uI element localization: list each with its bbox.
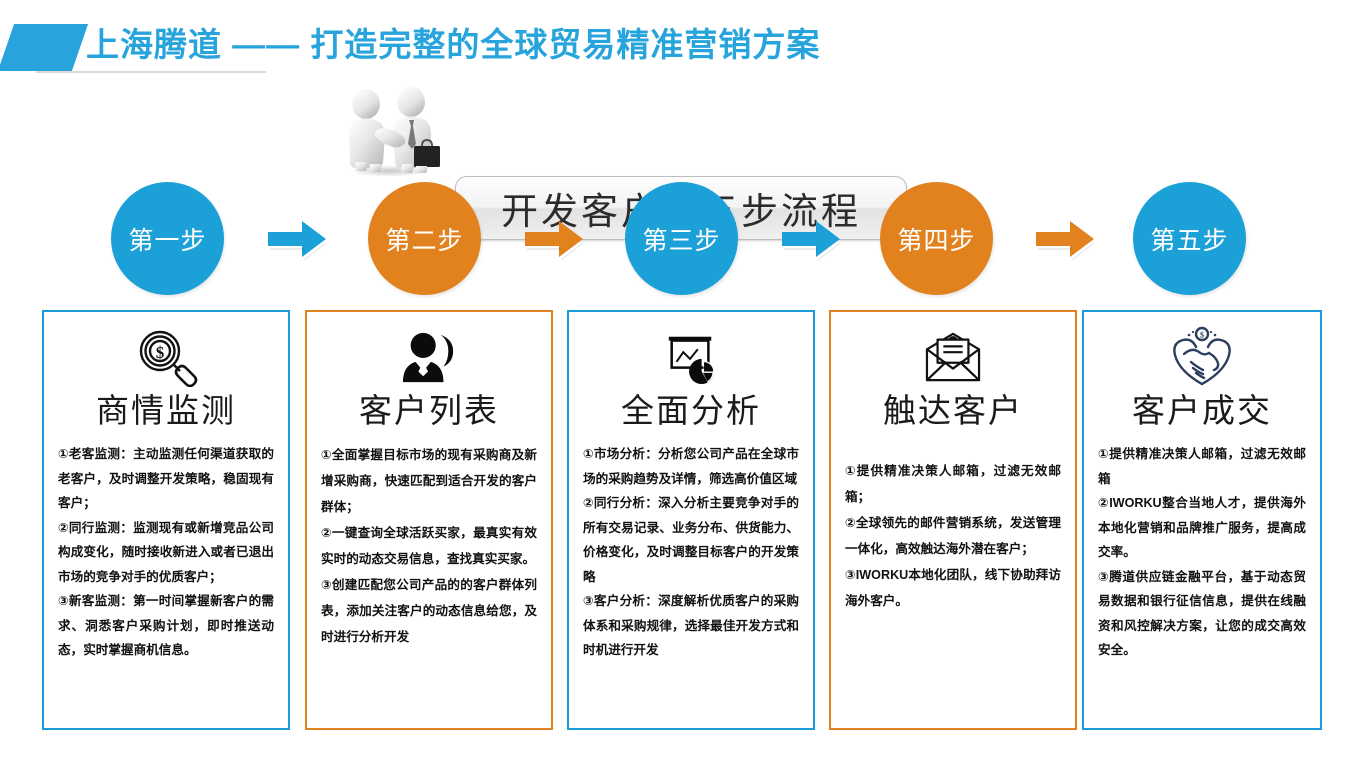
card-item-text: ①提供精准决策人邮箱，过滤无效邮箱； xyxy=(845,464,1061,504)
card-body: ①全面掌握目标市场的现有采购商及新增采购商，快速匹配到适合开发的客户群体； ②一… xyxy=(321,442,537,650)
card-item: ①提供精准决策人邮箱，过滤无效邮箱 xyxy=(1098,442,1306,491)
card-reach-customer[interactable]: 触达客户 ①提供精准决策人邮箱，过滤无效邮箱； ②全球领先的邮件营销系统，发送管… xyxy=(829,310,1077,730)
card-item-text: ②全球领先的邮件营销系统，发送管理一体化，高效触达海外潜在客户； xyxy=(845,516,1061,556)
card-deal-closed[interactable]: $ 客户成交 ①提供精准决策人邮箱，过滤无效邮箱 ②IWORKU整合当地人才，提… xyxy=(1082,310,1322,730)
card-item: ②一键查询全球活跃买家，最真实有效实时的动态交易信息，查找真实买家。 xyxy=(321,520,537,572)
slide-root: 上海腾道 —— 打造完整的全球贸易精准营销方案 xyxy=(0,0,1362,770)
card-item: ①市场分析：分析您公司产品在全球市场的采购趋势及详情，筛选高价值区域 xyxy=(583,442,799,491)
card-item: ②同行监测：监测现有或新增竞品公司构成变化，随时接收新进入或者已退出市场的竞争对… xyxy=(58,516,274,590)
step-circle-4[interactable]: 第四步 xyxy=(880,182,993,295)
step-circle-2-label: 第二步 xyxy=(385,221,463,257)
card-item-lead: ③客户分析： xyxy=(583,594,658,608)
card-item: ③创建匹配您公司产品的的客户群体列表，添加关注客户的动态信息给您，及时进行分析开… xyxy=(321,572,537,650)
step-arrow-1 xyxy=(264,214,332,262)
page-header: 上海腾道 —— 打造完整的全球贸易精准营销方案 xyxy=(0,0,1362,84)
card-item: ②IWORKU整合当地人才，提供海外本地化营销和品牌推广服务，提高成交率。 xyxy=(1098,491,1306,565)
step-circle-3[interactable]: 第三步 xyxy=(625,182,738,295)
card-title: 客户列表 xyxy=(321,392,537,432)
card-item-text: ②一键查询全球活跃买家，最真实有效实时的动态交易信息，查找真实买家。 xyxy=(321,526,537,566)
step-circle-5[interactable]: 第五步 xyxy=(1133,182,1246,295)
steps-row: 第一步 第二步 第三步 第四步 xyxy=(0,182,1362,297)
card-full-analysis[interactable]: 全面分析 ①市场分析：分析您公司产品在全球市场的采购趋势及详情，筛选高价值区域 … xyxy=(567,310,815,730)
card-item-text: ①提供精准决策人邮箱，过滤无效邮箱 xyxy=(1098,447,1306,486)
svg-text:$: $ xyxy=(1200,331,1204,340)
card-business-monitoring[interactable]: $ 商情监测 ①老客监测：主动监测任何渠道获取的老客户，及时调整开发策略，稳固现… xyxy=(42,310,290,730)
magnifier-dollar-icon: $ xyxy=(58,324,274,390)
header-divider xyxy=(36,71,266,73)
step-circle-5-label: 第五步 xyxy=(1150,221,1228,257)
card-item: ②同行分析：深入分析主要竞争对手的所有交易记录、业务分布、供货能力、价格变化，及… xyxy=(583,491,799,589)
card-title: 客户成交 xyxy=(1098,392,1306,432)
card-item-lead: ①老客监测： xyxy=(58,447,133,461)
handshake-clipart-icon xyxy=(336,84,444,176)
card-title: 商情监测 xyxy=(58,392,274,432)
card-item: ①全面掌握目标市场的现有采购商及新增采购商，快速匹配到适合开发的客户群体； xyxy=(321,442,537,520)
card-title: 触达客户 xyxy=(845,392,1061,432)
page-title: 上海腾道 —— 打造完整的全球贸易精准营销方案 xyxy=(86,22,820,68)
card-item: ②全球领先的邮件营销系统，发送管理一体化，高效触达海外潜在客户； xyxy=(845,510,1061,562)
card-item: ③IWORKU本地化团队，线下协助拜访海外客户。 xyxy=(845,562,1061,614)
card-item-lead: ①市场分析： xyxy=(583,447,658,461)
card-title: 全面分析 xyxy=(583,392,799,432)
card-customer-list[interactable]: 客户列表 ①全面掌握目标市场的现有采购商及新增采购商，快速匹配到适合开发的客户群… xyxy=(305,310,553,730)
step-arrow-3 xyxy=(778,214,846,262)
card-item-text: ③IWORKU本地化团队，线下协助拜访海外客户。 xyxy=(845,568,1061,608)
card-body: ①提供精准决策人邮箱，过滤无效邮箱； ②全球领先的邮件营销系统，发送管理一体化，… xyxy=(845,458,1061,614)
card-item: ③客户分析：深度解析优质客户的采购体系和采购规律，选择最佳开发方式和时机进行开发 xyxy=(583,589,799,663)
handshake-heart-icon: $ xyxy=(1098,324,1306,390)
card-item-text: ①全面掌握目标市场的现有采购商及新增采购商，快速匹配到适合开发的客户群体； xyxy=(321,448,537,514)
card-body: ①提供精准决策人邮箱，过滤无效邮箱 ②IWORKU整合当地人才，提供海外本地化营… xyxy=(1098,442,1306,663)
card-item: ①老客监测：主动监测任何渠道获取的老客户，及时调整开发策略，稳固现有客户； xyxy=(58,442,274,516)
step-circle-4-label: 第四步 xyxy=(897,221,975,257)
step-circle-2[interactable]: 第二步 xyxy=(368,182,481,295)
card-item-lead: ③新客监测： xyxy=(58,594,133,608)
card-item-text: ③创建匹配您公司产品的的客户群体列表，添加关注客户的动态信息给您，及时进行分析开… xyxy=(321,578,537,644)
card-item: ③新客监测：第一时间掌握新客户的需求、洞悉客户采购计划，即时推送动态，实时掌握商… xyxy=(58,589,274,663)
presentation-chart-icon xyxy=(583,324,799,390)
card-item-text: ②IWORKU整合当地人才，提供海外本地化营销和品牌推广服务，提高成交率。 xyxy=(1098,496,1306,559)
card-body: ①市场分析：分析您公司产品在全球市场的采购趋势及详情，筛选高价值区域 ②同行分析… xyxy=(583,442,799,663)
card-item-text: ③腾道供应链金融平台，基于动态贸易数据和银行征信信息，提供在线融资和风控解决方案… xyxy=(1098,570,1306,658)
card-body: ①老客监测：主动监测任何渠道获取的老客户，及时调整开发策略，稳固现有客户； ②同… xyxy=(58,442,274,663)
customer-group-icon xyxy=(321,324,537,390)
header-flag-shape xyxy=(0,24,88,71)
step-circle-1[interactable]: 第一步 xyxy=(111,182,224,295)
card-item-lead: ②同行监测： xyxy=(58,521,133,535)
cards-row: $ 商情监测 ①老客监测：主动监测任何渠道获取的老客户，及时调整开发策略，稳固现… xyxy=(0,305,1362,735)
svg-text:$: $ xyxy=(156,343,165,362)
open-envelope-icon xyxy=(845,324,1061,390)
card-item: ①提供精准决策人邮箱，过滤无效邮箱； xyxy=(845,458,1061,510)
step-circle-1-label: 第一步 xyxy=(128,221,206,257)
hero-section: 开发客户的五步流程 xyxy=(0,84,1362,194)
card-item: ③腾道供应链金融平台，基于动态贸易数据和银行征信信息，提供在线融资和风控解决方案… xyxy=(1098,565,1306,663)
step-arrow-4 xyxy=(1032,214,1100,262)
card-item-lead: ②同行分析： xyxy=(583,496,658,510)
step-arrow-2 xyxy=(521,214,589,262)
step-circle-3-label: 第三步 xyxy=(642,221,720,257)
